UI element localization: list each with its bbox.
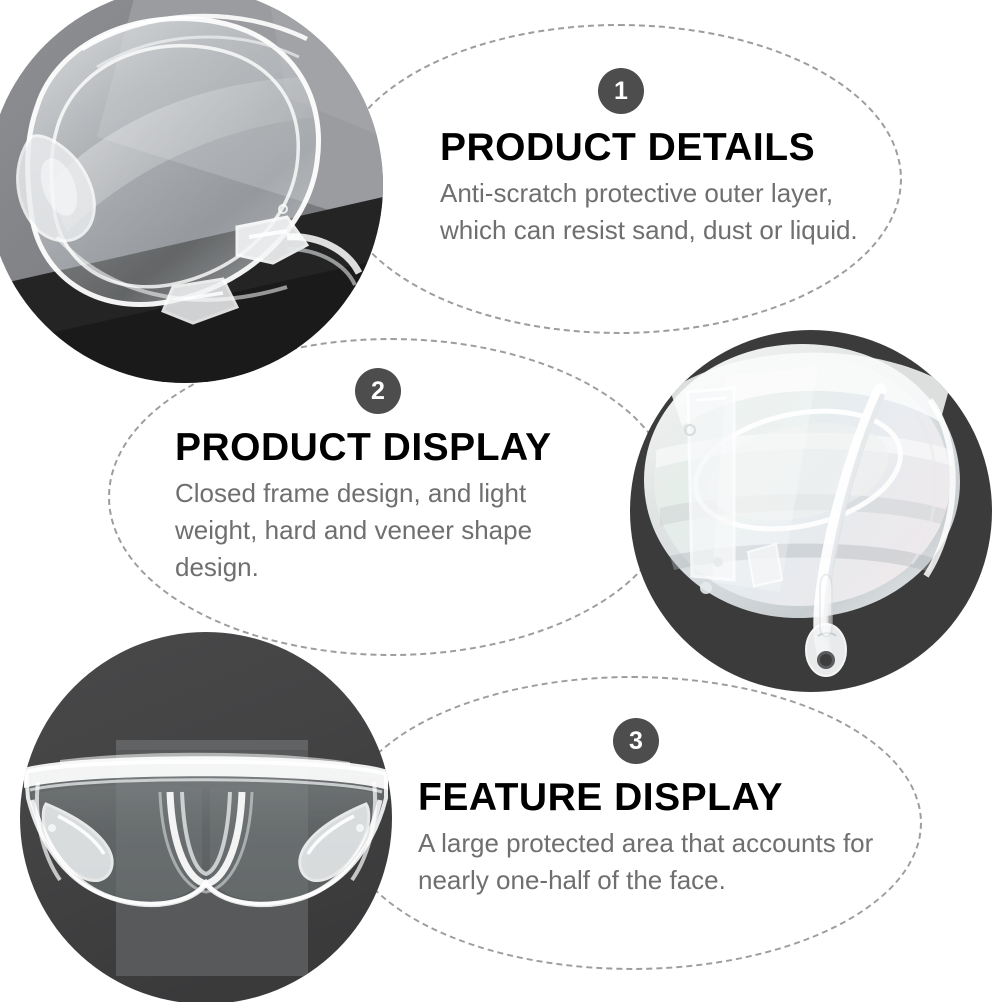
step-badge-3: 3 [613,718,659,764]
section-heading-2: PRODUCT DISPLAY [175,428,615,469]
content-block-1: 1 PRODUCT DETAILS Anti-scratch protectiv… [440,68,890,249]
section-body-1: Anti-scratch protective outer layer, whi… [440,175,890,249]
product-photo-2 [630,330,992,692]
section-body-2: Closed frame design, and light weight, h… [175,475,615,586]
step-badge-1: 1 [598,68,644,114]
section-heading-3: FEATURE DISPLAY [418,778,888,819]
step-badge-2: 2 [355,368,401,414]
infographic-page: 1 PRODUCT DETAILS Anti-scratch protectiv… [0,0,1002,1002]
product-photo-1 [0,0,383,383]
section-body-3: A large protected area that accounts for… [418,825,888,899]
section-heading-1: PRODUCT DETAILS [440,128,890,169]
content-block-3: 3 FEATURE DISPLAY A large protected area… [418,718,888,899]
product-photo-3 [20,632,392,1002]
content-block-2: 2 PRODUCT DISPLAY Closed frame design, a… [175,368,615,586]
